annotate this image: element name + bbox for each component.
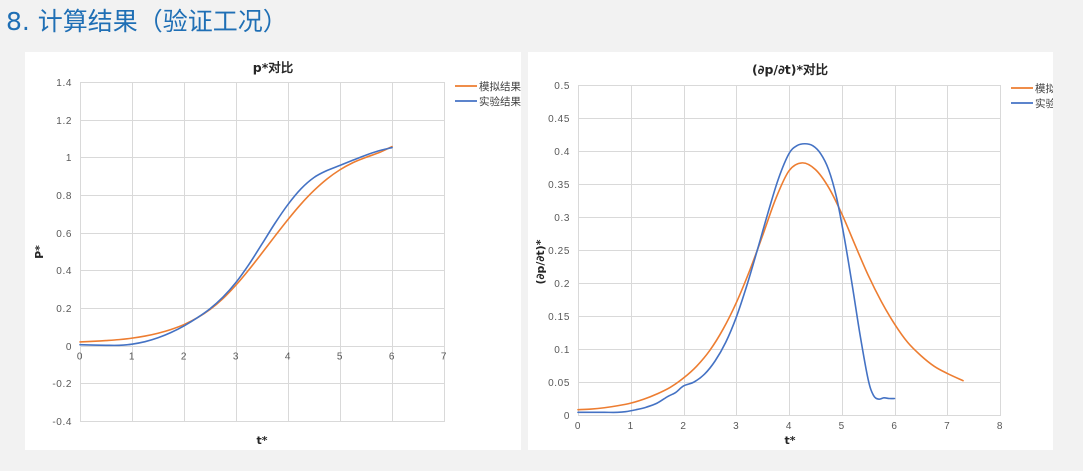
chart-card-p-star: p*对比-0.4-0.200.20.40.60.811.21.401234567… [25, 52, 521, 450]
x-axis-label: t* [784, 434, 795, 447]
x-tick-label: 5 [839, 421, 845, 432]
y-tick-label: 0.05 [548, 378, 570, 389]
legend-label-simulation: 模拟结果 [1035, 82, 1053, 95]
x-tick-label: 0 [575, 421, 581, 432]
y-tick-label: 0.3 [554, 213, 570, 224]
x-tick-label: 2 [680, 421, 686, 432]
y-tick-label: 0.5 [554, 81, 570, 92]
series-line-simulation [578, 163, 963, 410]
y-tick-label: 0.4 [554, 147, 570, 158]
dpdt-star-chart[interactable]: (∂p/∂t)*对比00.050.10.150.20.250.30.350.40… [528, 52, 1053, 450]
x-tick-label: 4 [285, 352, 291, 363]
legend-label-experiment: 实验结果 [1035, 97, 1053, 110]
y-tick-label: -0.4 [52, 417, 72, 428]
x-tick-label: 7 [441, 352, 447, 363]
y-tick-label: 0 [564, 411, 570, 422]
y-tick-label: 0.25 [548, 246, 570, 257]
x-tick-label: 4 [786, 421, 792, 432]
y-tick-label: 0.4 [56, 266, 72, 277]
y-tick-label: 0 [66, 342, 72, 353]
x-tick-label: 2 [181, 352, 187, 363]
chart-title: p*对比 [253, 60, 294, 75]
chart-title: (∂p/∂t)*对比 [752, 62, 829, 77]
x-tick-label: 1 [129, 352, 135, 363]
x-tick-label: 6 [891, 421, 897, 432]
y-tick-label: 0.2 [56, 304, 72, 315]
x-tick-label: 7 [944, 421, 950, 432]
y-tick-label: 1.2 [56, 116, 72, 127]
y-axis-label: (∂p/∂t)* [534, 239, 547, 284]
y-tick-label: 1 [66, 153, 72, 164]
chart-card-dpdt-star: (∂p/∂t)*对比00.050.10.150.20.250.30.350.40… [528, 52, 1053, 450]
y-tick-label: 0.2 [554, 279, 570, 290]
x-tick-label: 5 [337, 352, 343, 363]
y-tick-label: 0.35 [548, 180, 570, 191]
x-tick-label: 6 [389, 352, 395, 363]
y-tick-label: 0.8 [56, 191, 72, 202]
y-tick-label: 0.15 [548, 312, 570, 323]
legend-label-simulation: 模拟结果 [479, 80, 521, 93]
y-tick-label: 0.45 [548, 114, 570, 125]
slide-canvas: 8. 计算结果（验证工况） p*对比-0.4-0.200.20.40.60.81… [0, 0, 1083, 471]
p-star-chart[interactable]: p*对比-0.4-0.200.20.40.60.811.21.401234567… [25, 52, 521, 450]
x-tick-label: 8 [997, 421, 1003, 432]
chart-legend[interactable]: 模拟结果实验结果 [1011, 82, 1053, 110]
x-tick-label: 3 [233, 352, 239, 363]
chart-legend[interactable]: 模拟结果实验结果 [455, 80, 521, 108]
y-tick-label: 0.1 [554, 345, 570, 356]
legend-label-experiment: 实验结果 [479, 95, 521, 108]
y-tick-label: 0.6 [56, 229, 72, 240]
x-tick-label: 3 [733, 421, 739, 432]
y-tick-label: 1.4 [56, 78, 72, 89]
x-axis-label: t* [256, 434, 267, 447]
y-axis-label: P* [33, 245, 46, 259]
x-tick-label: 1 [628, 421, 634, 432]
x-tick-label: 0 [77, 352, 83, 363]
y-tick-label: -0.2 [52, 379, 72, 390]
page-title: 8. 计算结果（验证工况） [6, 2, 288, 38]
